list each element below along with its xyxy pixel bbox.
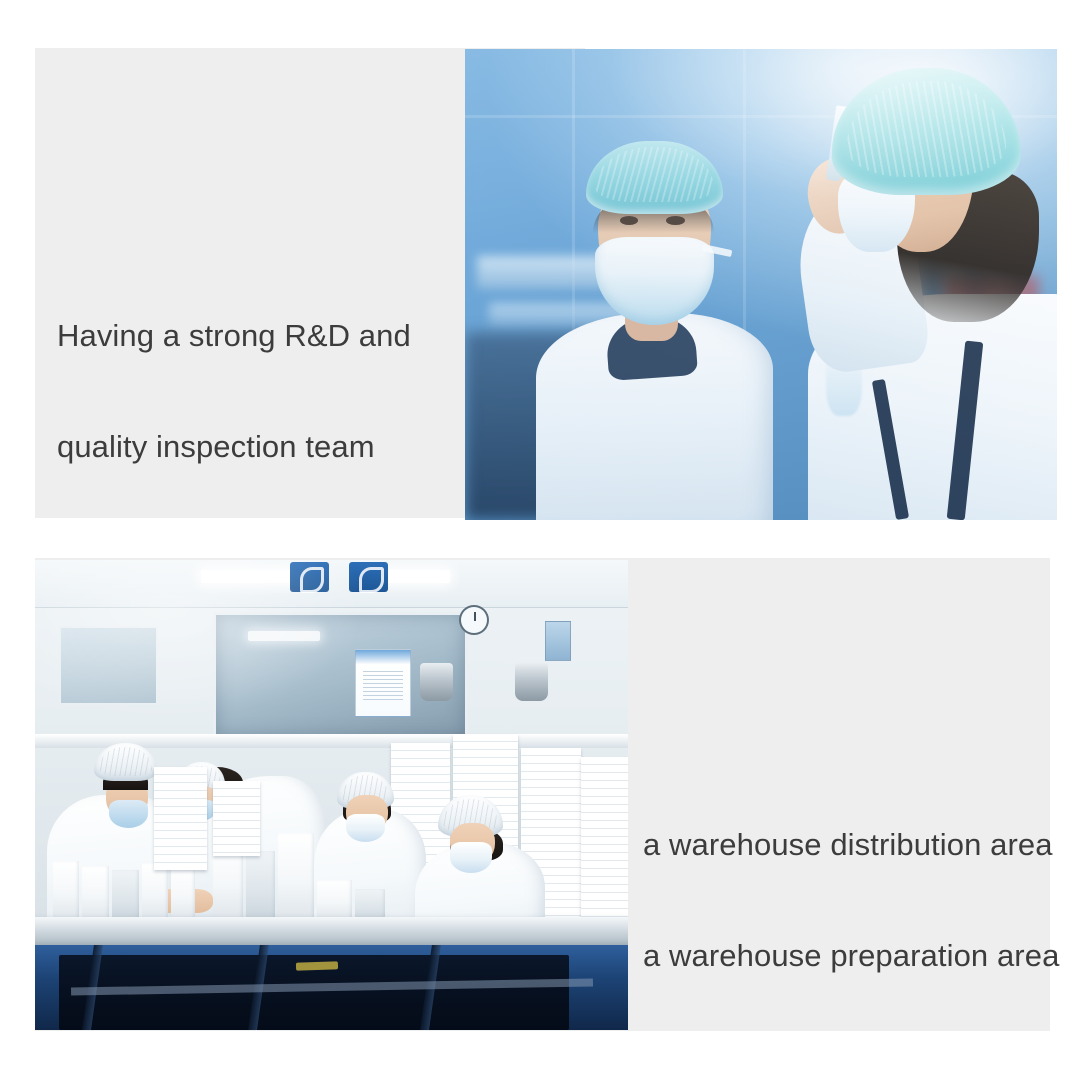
carton-stack — [213, 781, 260, 856]
warehouse-packing-photo — [35, 560, 628, 1030]
ceiling-light-icon — [201, 570, 296, 582]
carton — [53, 861, 80, 922]
lab-inspection-photo — [465, 49, 1057, 520]
warehouse-caption-line-1: a warehouse distribution area — [643, 826, 1059, 863]
wall-cabinet — [545, 621, 571, 661]
lab-scene — [465, 49, 1057, 520]
carton-stack — [581, 757, 628, 922]
rd-caption-text: Having a strong R&D and quality inspecti… — [57, 243, 411, 539]
carton — [142, 863, 169, 922]
blue-sign-icon — [290, 562, 329, 593]
carton — [317, 880, 353, 922]
packer-center-mask — [346, 814, 385, 842]
packer-left-mask — [109, 800, 148, 828]
cleanroom-ceiling — [35, 560, 628, 608]
carton — [112, 870, 139, 922]
lab-technician-front-eye — [666, 216, 684, 225]
carton-stack — [154, 767, 207, 870]
page-root: Having a strong R&D and quality inspecti… — [0, 0, 1080, 1080]
rd-caption-line-1: Having a strong R&D and — [57, 317, 411, 354]
rd-caption-line-2: quality inspection team — [57, 428, 411, 465]
warehouse-caption-text: a warehouse distribution area a warehous… — [643, 752, 1059, 1048]
wall-clock-icon — [459, 605, 489, 635]
wall-notice-poster — [355, 649, 410, 717]
stainless-work-table — [35, 917, 628, 948]
steel-pot-icon — [420, 663, 453, 701]
warehouse-caption-line-2: a warehouse preparation area — [643, 937, 1059, 974]
steel-pot-icon — [515, 663, 548, 701]
blue-sign-icon — [349, 562, 388, 593]
carton — [246, 851, 276, 922]
warehouse-scene — [35, 560, 628, 1030]
carton — [171, 870, 195, 922]
carton — [278, 833, 314, 922]
carton — [82, 866, 109, 922]
packer-right-mask — [450, 842, 492, 873]
window-light-icon — [248, 631, 319, 641]
cleanroom-side-window — [59, 626, 158, 705]
